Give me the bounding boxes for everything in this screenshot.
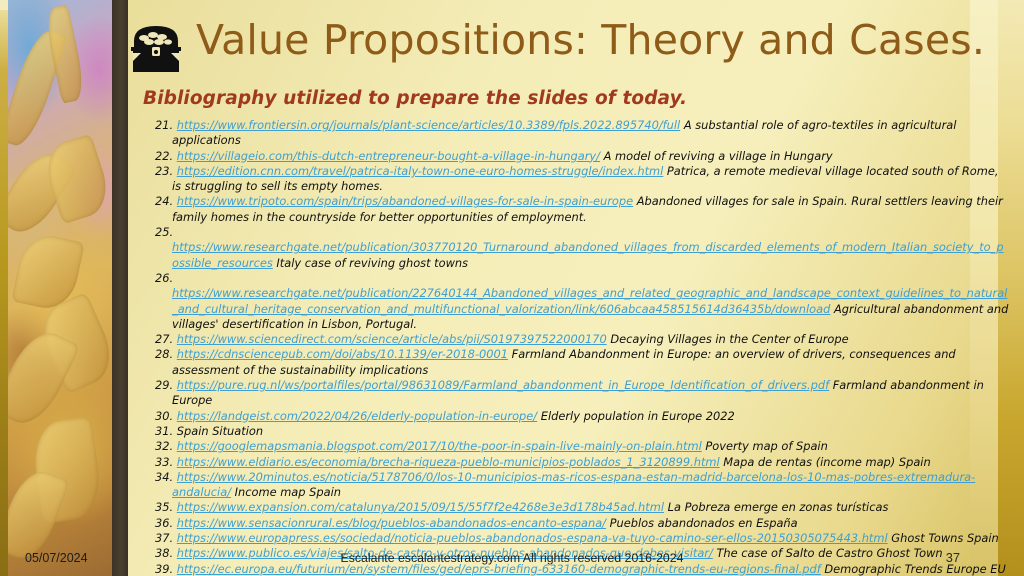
entry-url-link[interactable]: https://edition.cnn.com/travel/patrica-i…	[177, 164, 664, 178]
sunflower-artwork-strip	[8, 0, 112, 576]
bibliography-entry: 23. https://edition.cnn.com/travel/patri…	[155, 164, 1010, 195]
bibliography-entry: 32. https://googlemapsmania.blogspot.com…	[155, 439, 1010, 454]
slide-header: Value Propositions: Theory and Cases.	[128, 18, 970, 84]
entry-number: 21.	[155, 118, 177, 132]
entry-number: 33.	[155, 455, 177, 469]
treasure-chest-icon	[128, 23, 184, 75]
entry-description: Ghost Towns Spain	[888, 531, 999, 545]
entry-number: 25.	[155, 225, 173, 239]
artwork-left-gold-edge	[0, 0, 8, 576]
bibliography-entry: 34. https://www.20minutos.es/noticia/517…	[155, 470, 1010, 501]
page-title: Value Propositions: Theory and Cases.	[196, 16, 985, 64]
bibliography-list: 21. https://www.frontiersin.org/journals…	[155, 118, 1010, 576]
entry-url-link[interactable]: https://www.eldiario.es/economia/brecha-…	[177, 455, 720, 469]
entry-url-link[interactable]: https://www.expansion.com/catalunya/2015…	[177, 500, 664, 514]
entry-url-link[interactable]: https://www.tripoto.com/spain/trips/aban…	[177, 194, 633, 208]
bibliography-entry: 26. https://www.researchgate.net/publica…	[155, 271, 1010, 332]
entry-url-link[interactable]: https://www.frontiersin.org/journals/pla…	[177, 118, 680, 132]
entry-number: 27.	[155, 332, 177, 346]
bibliography-entry: 27. https://www.sciencedirect.com/scienc…	[155, 332, 1010, 347]
bibliography-entry: 28. https://cdnsciencepub.com/doi/abs/10…	[155, 347, 1010, 378]
entry-number: 32.	[155, 439, 177, 453]
bibliography-entry: 33. https://www.eldiario.es/economia/bre…	[155, 455, 1010, 470]
entry-description: Decaying Villages in the Center of Europ…	[607, 332, 849, 346]
slide-canvas: Value Propositions: Theory and Cases. Bi…	[0, 0, 1024, 576]
entry-url-link[interactable]: https://pure.rug.nl/ws/portalfiles/porta…	[177, 378, 829, 392]
entry-number: 36.	[155, 516, 177, 530]
entry-url-link[interactable]: https://cdnsciencepub.com/doi/abs/10.113…	[177, 347, 508, 361]
artwork-top-nub	[0, 0, 8, 10]
entry-url-link[interactable]: https://www.sensacionrural.es/blog/puebl…	[177, 516, 606, 530]
footer-page-number: 37	[946, 550, 960, 565]
entry-number: 31.	[155, 424, 177, 438]
entry-description: Spain Situation	[177, 424, 263, 438]
bibliography-entry: 35. https://www.expansion.com/catalunya/…	[155, 500, 1010, 515]
entry-url-link[interactable]: https://villageio.com/this-dutch-entrepr…	[177, 149, 600, 163]
bibliography-entry: 36. https://www.sensacionrural.es/blog/p…	[155, 516, 1010, 531]
artwork-dark-border	[112, 0, 128, 576]
entry-number: 26.	[155, 271, 173, 285]
bibliography-entry: 22. https://villageio.com/this-dutch-ent…	[155, 149, 1010, 164]
entry-description: A model of reviving a village in Hungary	[600, 149, 833, 163]
entry-url-link[interactable]: https://landgeist.com/2022/04/26/elderly…	[177, 409, 537, 423]
entry-number: 28.	[155, 347, 177, 361]
entry-description: Pueblos abandonados en España	[606, 516, 798, 530]
entry-number: 22.	[155, 149, 177, 163]
section-subtitle: Bibliography utilized to prepare the sli…	[143, 88, 687, 109]
entry-description: Italy case of reviving ghost towns	[273, 256, 468, 270]
entry-number: 34.	[155, 470, 177, 484]
footer-copyright: Escalante escalantestrategy.com All righ…	[0, 551, 1024, 565]
entry-number: 35.	[155, 500, 177, 514]
entry-description: Mapa de rentas (income map) Spain	[720, 455, 931, 469]
bibliography-entry: 31. Spain Situation	[155, 424, 1010, 439]
bibliography-entry: 24. https://www.tripoto.com/spain/trips/…	[155, 194, 1010, 225]
bibliography-entry: 21. https://www.frontiersin.org/journals…	[155, 118, 1010, 149]
entry-number: 30.	[155, 409, 177, 423]
entry-number: 24.	[155, 194, 177, 208]
entry-number: 37.	[155, 531, 177, 545]
bibliography-entry: 37. https://www.europapress.es/sociedad/…	[155, 531, 1010, 546]
bibliography-entry: 30. https://landgeist.com/2022/04/26/eld…	[155, 409, 1010, 424]
entry-description: Income map Spain	[231, 485, 341, 499]
entry-url-link[interactable]: https://googlemapsmania.blogspot.com/201…	[177, 439, 702, 453]
entry-url-link[interactable]: https://www.sciencedirect.com/science/ar…	[177, 332, 607, 346]
entry-number: 23.	[155, 164, 177, 178]
entry-description: Poverty map of Spain	[702, 439, 828, 453]
entry-description: La Pobreza emerge en zonas turísticas	[664, 500, 888, 514]
bibliography-entry: 25. https://www.researchgate.net/publica…	[155, 225, 1010, 271]
entry-url-link[interactable]: https://www.europapress.es/sociedad/noti…	[177, 531, 888, 545]
entry-description: Elderly population in Europe 2022	[537, 409, 735, 423]
entry-number: 29.	[155, 378, 177, 392]
bibliography-entry: 29. https://pure.rug.nl/ws/portalfiles/p…	[155, 378, 1010, 409]
